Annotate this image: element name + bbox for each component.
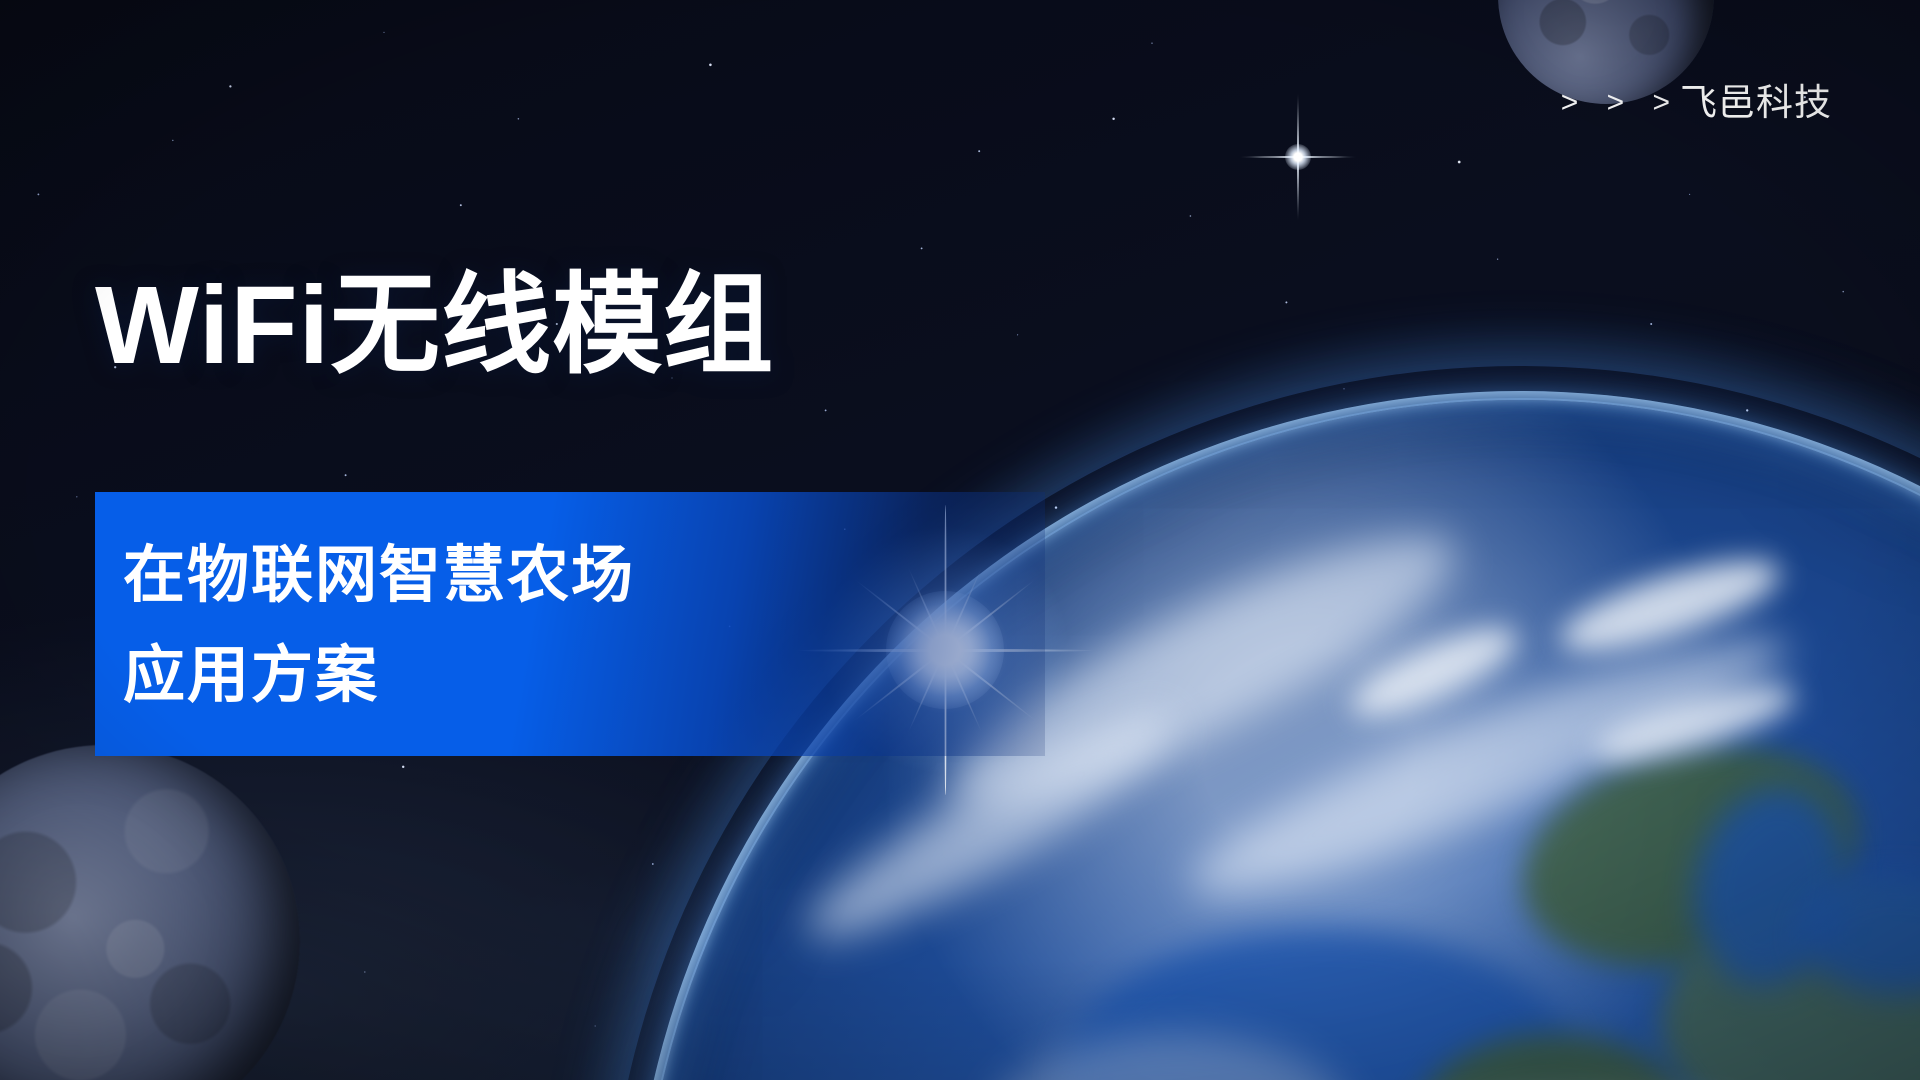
page-title: WiFi无线模组 — [95, 262, 774, 390]
brand-logo[interactable]: > > > 飞邑科技 — [1561, 84, 1832, 121]
subtitle-highlight-box: 在物联网智慧农场 应用方案 — [95, 492, 1045, 756]
subtitle-line-1: 在物联网智慧农场 — [123, 526, 1045, 626]
headline-group: WiFi无线模组 — [95, 262, 774, 390]
brand-name: 飞邑科技 — [1680, 84, 1832, 121]
hero-banner: > > > 飞邑科技 WiFi无线模组 在物联网智慧农场 应用方案 — [0, 0, 1920, 1080]
chevron-right-icon-group: > > > — [1561, 88, 1680, 118]
moon-icon-bottom-left — [0, 745, 300, 1080]
subtitle-line-2: 应用方案 — [123, 626, 1045, 726]
